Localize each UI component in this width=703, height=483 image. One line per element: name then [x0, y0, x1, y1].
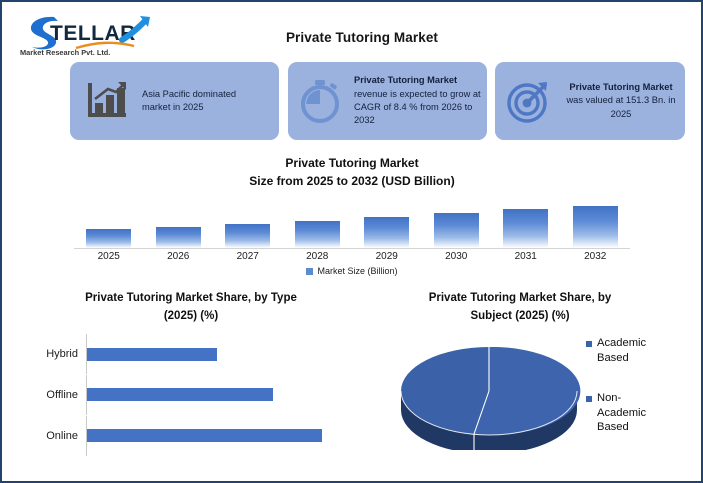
column-bar-cell: [491, 200, 561, 248]
legend-swatch-icon: [586, 341, 592, 347]
highlight-card-region: Asia Pacific dominated market in 2025: [70, 62, 279, 140]
hbar-category-label: Offline: [22, 389, 86, 401]
legend-swatch-icon: [586, 396, 592, 402]
pie-graphic: [396, 332, 582, 450]
column-x-label: 2032: [561, 251, 631, 262]
column-bar: [295, 221, 340, 248]
column-chart-title-line1: Private Tutoring Market: [62, 154, 642, 172]
column-bar-cell: [283, 200, 353, 248]
highlight-card-value: Private Tutoring Market was valued at 15…: [495, 62, 685, 140]
column-bar-cell: [422, 200, 492, 248]
pie-legend-item-academic: AcademicBased: [586, 336, 690, 365]
column-chart-plot: [74, 200, 630, 249]
bar-chart-growth-icon: [76, 79, 138, 123]
hbar-track: [86, 416, 360, 456]
hbar-chart-title: Private Tutoring Market Share, by Type (…: [16, 290, 366, 326]
highlight-text-1: Asia Pacific dominated market in 2025: [138, 88, 279, 115]
legend-label: Market Size (Billion): [317, 266, 397, 276]
market-size-column-chart: Private Tutoring Market Size from 2025 t…: [62, 154, 642, 279]
stopwatch-icon: [292, 78, 348, 124]
column-chart-title: Private Tutoring Market Size from 2025 t…: [62, 154, 642, 190]
share-by-type-bar-chart: Private Tutoring Market Share, by Type (…: [16, 290, 366, 470]
hbar-fill: [87, 429, 322, 442]
column-x-label: 2031: [491, 251, 561, 262]
share-by-subject-pie-chart: Private Tutoring Market Share, by Subjec…: [374, 290, 694, 470]
column-x-label: 2026: [144, 251, 214, 262]
pie-chart-legend: AcademicBased Non-AcademicBased: [586, 336, 690, 461]
column-bar: [364, 217, 409, 248]
hbar-track: [86, 334, 360, 374]
pie-chart-title-line2: Subject (2025) (%): [382, 308, 658, 326]
hbar-track: [86, 375, 360, 415]
hbar-row: Hybrid: [22, 334, 360, 374]
column-x-label: 2030: [422, 251, 492, 262]
hbar-chart-title-line2: (2025) (%): [34, 308, 348, 326]
hbar-chart-plot: HybridOfflineOnline: [22, 334, 360, 456]
column-bar-cell: [144, 200, 214, 248]
column-bar-cell: [74, 200, 144, 248]
highlight-text-3: Private Tutoring Market was valued at 15…: [557, 81, 685, 121]
hbar-row: Online: [22, 416, 360, 456]
highlight-text-2: Private Tutoring Market revenue is expec…: [348, 74, 487, 128]
target-dart-icon: [501, 78, 557, 124]
column-bar: [573, 206, 618, 248]
pie-legend-label-2: Non-AcademicBased: [597, 391, 646, 435]
column-bar: [434, 213, 479, 248]
hbar-fill: [87, 388, 273, 401]
column-bar: [86, 229, 131, 248]
pie-chart-title: Private Tutoring Market Share, by Subjec…: [374, 290, 694, 326]
column-bar: [503, 209, 548, 248]
column-bar: [225, 224, 270, 248]
stellar-logo: TELLAR Market Research Pvt. Ltd.: [18, 10, 160, 58]
hbar-chart-title-line1: Private Tutoring Market Share, by Type: [34, 290, 348, 308]
logo-tagline: Market Research Pvt. Ltd.: [20, 48, 110, 57]
column-chart-title-line2: Size from 2025 to 2032 (USD Billion): [62, 172, 642, 190]
pie-legend-item-non-academic: Non-AcademicBased: [586, 391, 690, 435]
column-bar: [156, 227, 201, 248]
legend-swatch-icon: [306, 268, 313, 275]
pie-legend-label-1: AcademicBased: [597, 336, 646, 365]
page-title: Private Tutoring Market: [182, 30, 542, 45]
column-x-label: 2029: [352, 251, 422, 262]
column-chart-legend: Market Size (Billion): [62, 266, 642, 276]
hbar-category-label: Online: [22, 430, 86, 442]
highlight-card-cagr: Private Tutoring Market revenue is expec…: [288, 62, 487, 140]
hbar-category-label: Hybrid: [22, 348, 86, 360]
column-bar-cell: [352, 200, 422, 248]
column-x-label: 2025: [74, 251, 144, 262]
column-chart-x-labels: 20252026202720282029203020312032: [74, 251, 630, 262]
column-bar-cell: [213, 200, 283, 248]
pie-chart-title-line1: Private Tutoring Market Share, by: [382, 290, 658, 308]
infographic-frame: TELLAR Market Research Pvt. Ltd. Private…: [0, 0, 703, 483]
column-x-label: 2027: [213, 251, 283, 262]
hbar-fill: [87, 348, 217, 361]
hbar-row: Offline: [22, 375, 360, 415]
column-x-label: 2028: [283, 251, 353, 262]
column-bar-cell: [561, 200, 631, 248]
